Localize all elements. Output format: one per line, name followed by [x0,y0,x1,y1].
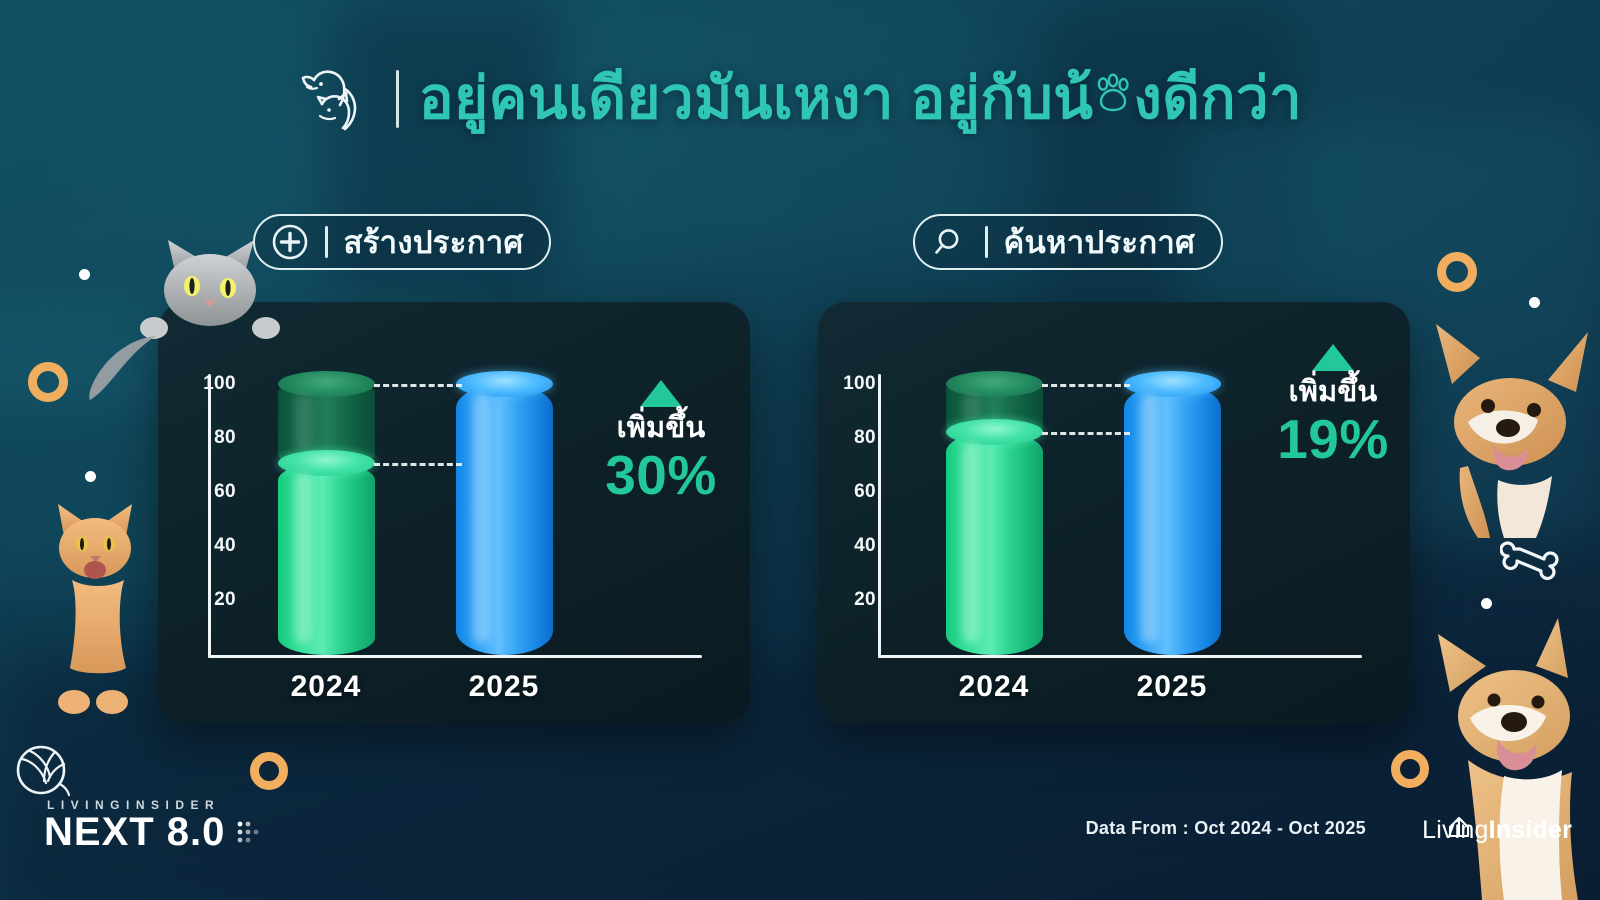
livinginsider-brand: LivingInsider [1422,816,1572,845]
y-tick-label: 100 [203,373,236,395]
y-tick-label: 40 [214,535,236,557]
brand-light-part: Living [1422,816,1489,844]
page-title-part1: อยู่คนเดียวมันเหงา อยู่กับน้ [419,69,1094,130]
bar-2024 [278,463,375,655]
y-tick-label: 60 [854,481,876,503]
pill-divider [985,226,988,258]
dog-cat-line-icon [298,64,376,134]
decor-dot [1529,297,1540,308]
decor-ring [1437,252,1477,292]
chart-plot-area: 100 80 60 40 20 2024 2025 [818,302,1410,724]
yarn-ball-icon [10,736,72,798]
arrow-up-icon [1312,344,1354,371]
y-axis-line [878,374,881,658]
corgi-photo [1408,318,1600,538]
x-label-2024: 2024 [291,670,362,704]
bone-icon [1500,537,1560,583]
delta-callout: เพิ่มขึ้น 19% [1238,344,1428,469]
search-listing-chart-card: 100 80 60 40 20 2024 2025 [818,302,1410,724]
x-label-2024: 2024 [959,670,1030,704]
search-icon [931,223,969,261]
y-tick-label: 60 [214,481,236,503]
y-tick-label: 20 [214,589,236,611]
page-title: อยู่คนเดียวมันเหงา อยู่กับน้ งดีกว่า [419,69,1302,130]
decor-ring [250,752,288,790]
cat-peeking-photo [132,232,288,340]
dot-grid-icon [235,819,261,845]
header-divider [396,70,399,128]
bar-2025 [1124,384,1221,655]
x-axis-line [208,655,702,658]
shiba-photo [1408,600,1600,900]
x-axis-line [878,655,1362,658]
dash-top-connector [374,384,462,387]
x-label-2025: 2025 [1137,670,1208,704]
data-source-note: Data From : Oct 2024 - Oct 2025 [1086,818,1366,839]
dash-bottom-connector [1042,432,1130,435]
dash-top-connector [1042,384,1130,387]
search-listing-label: ค้นหาประกาศ [1004,217,1196,267]
paw-print-icon [1091,71,1135,115]
pill-divider [325,226,328,258]
create-listing-label: สร้างประกาศ [344,217,524,267]
delta-value: 19% [1238,409,1428,470]
y-tick-label: 80 [214,427,236,449]
arrow-up-icon [640,380,682,407]
decor-dot [85,471,96,482]
y-tick-label: 40 [854,535,876,557]
y-tick-label: 100 [843,373,876,395]
delta-label: เพิ่มขึ้น [566,413,756,445]
create-listing-pill[interactable]: สร้างประกาศ [253,214,551,270]
brand-bold-part: Insider [1489,816,1572,844]
decor-dot [79,269,90,280]
delta-callout: เพิ่มขึ้น 30% [566,380,756,505]
infographic-canvas: อยู่คนเดียวมันเหงา อยู่กับน้ งดีกว่า สร้… [0,0,1600,900]
delta-value: 30% [566,445,756,506]
search-listing-pill[interactable]: ค้นหาประกาศ [913,214,1223,270]
x-label-2025: 2025 [469,670,540,704]
y-axis-line [208,374,211,658]
dash-bottom-connector [374,463,462,466]
page-header: อยู่คนเดียวมันเหงา อยู่กับน้ งดีกว่า [0,64,1600,134]
next-version-text: NEXT 8.0 [44,812,225,852]
bar-2024 [946,432,1043,655]
next-8-logo: LIVINGINSIDER NEXT 8.0 [44,798,261,852]
y-tick-label: 80 [854,427,876,449]
delta-label: เพิ่มขึ้น [1238,377,1428,409]
cat-tail-photo [84,330,162,402]
chart-plot-area: 100 80 60 40 20 2024 [158,302,750,724]
y-tick-label: 20 [854,589,876,611]
orange-kitten-photo [34,496,158,728]
page-title-part2: งดีกว่า [1133,69,1302,130]
decor-ring [28,362,68,402]
create-listing-chart-card: 100 80 60 40 20 2024 [158,302,750,724]
bar-2025 [456,384,553,655]
